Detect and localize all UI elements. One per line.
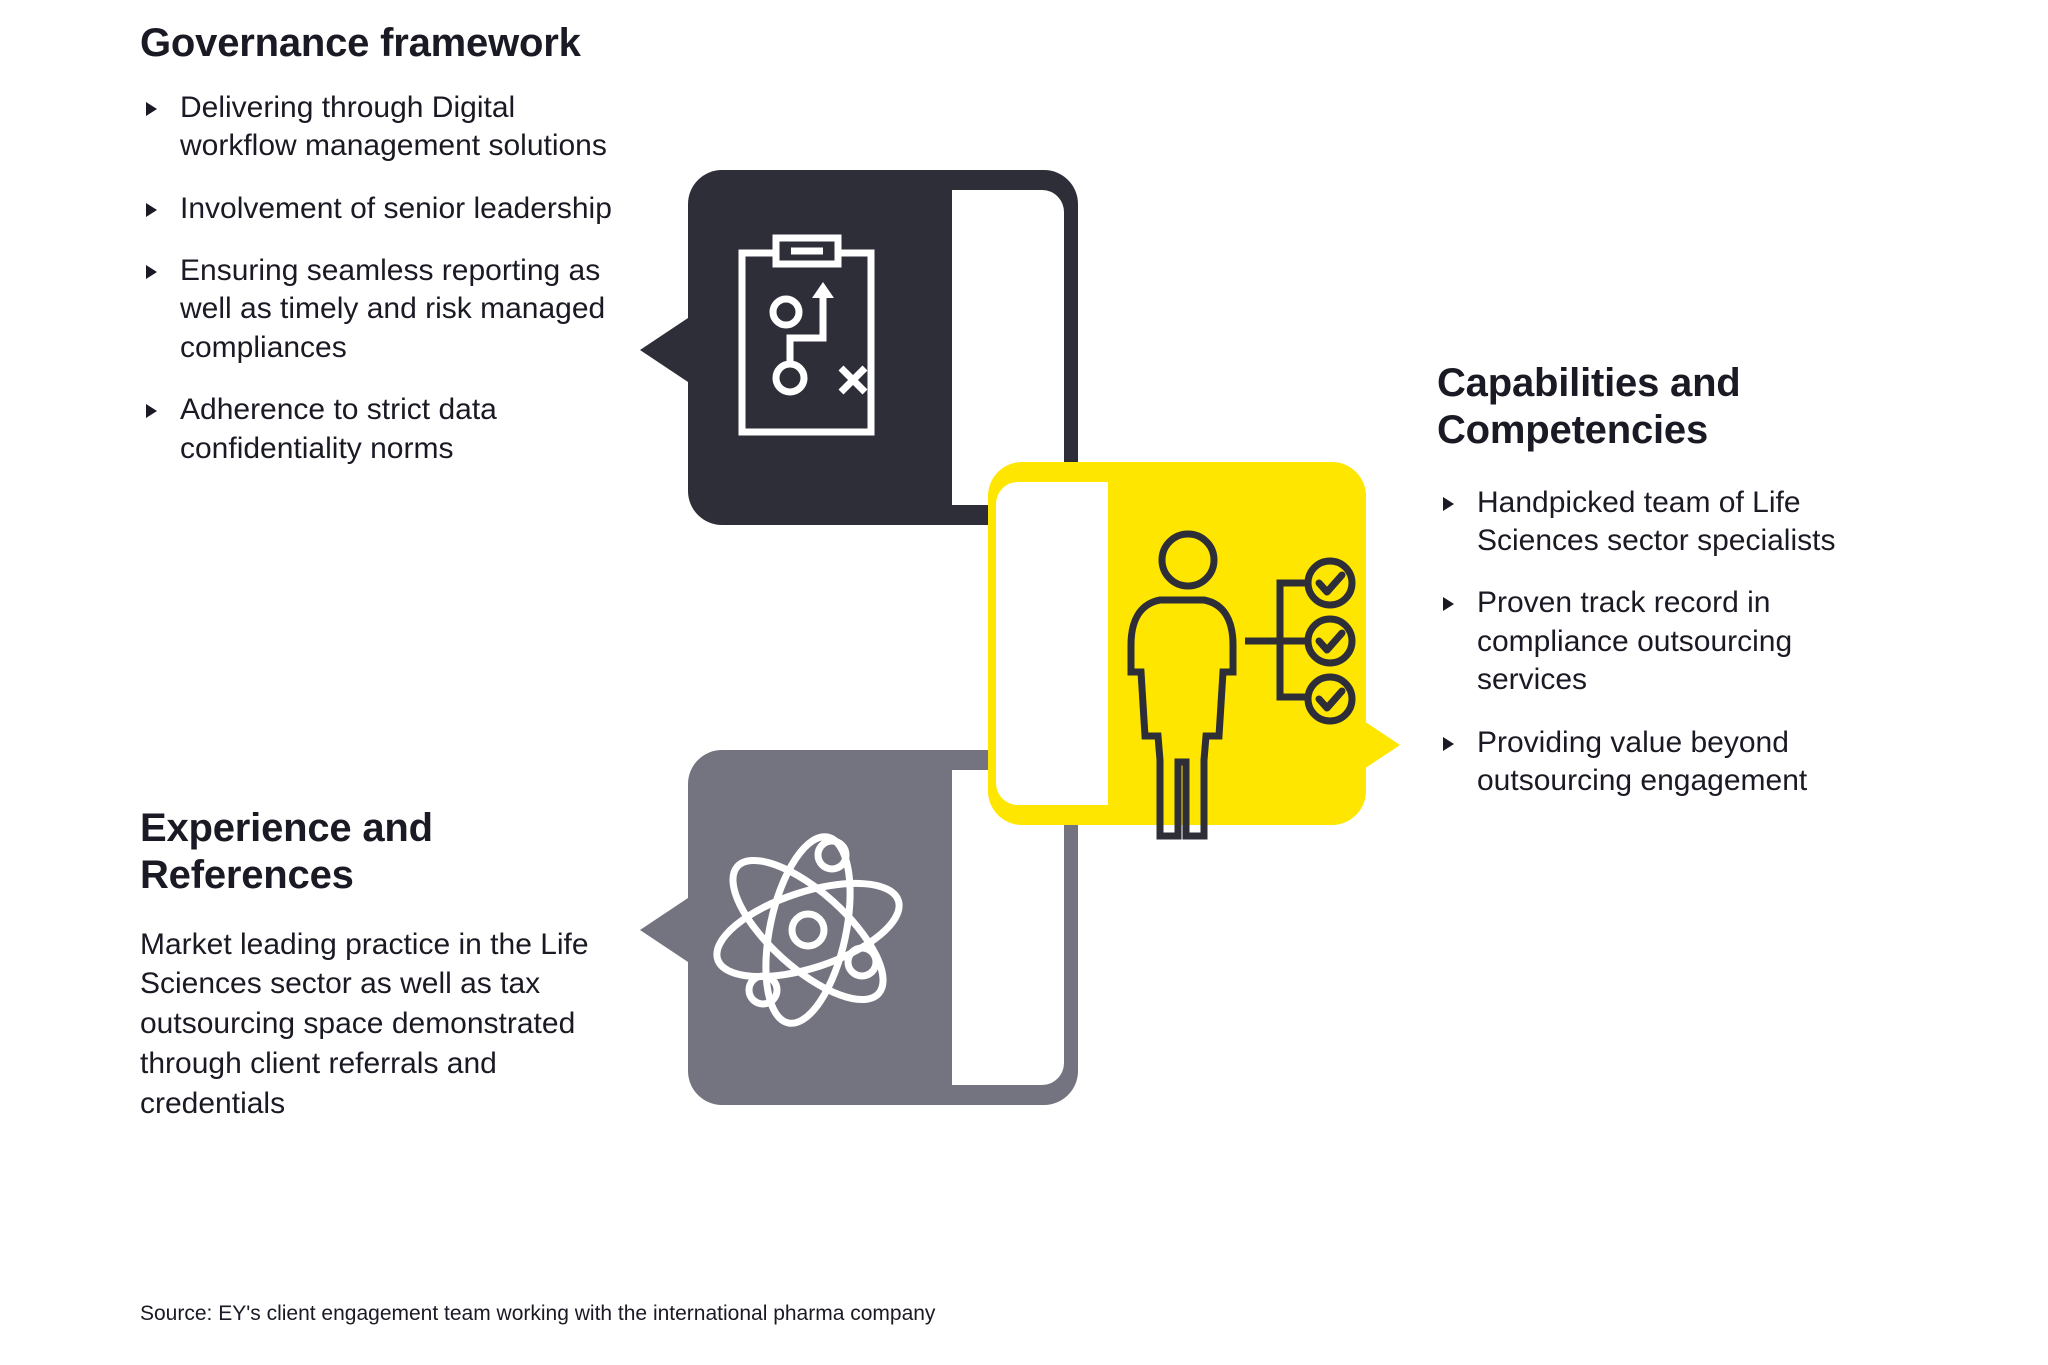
bullet-text: Ensuring seamless reporting as well as t… <box>180 254 605 364</box>
governance-bullet-list: Delivering through Digital workflow mana… <box>140 89 630 468</box>
bullet-text: Involvement of senior leadership <box>180 192 612 225</box>
tile-experience-body <box>688 750 1078 1105</box>
experience-body: Market leading practice in the Life Scie… <box>140 925 610 1124</box>
list-item: Providing value beyond outsourcing engag… <box>1437 724 1907 801</box>
tile-experience-tail <box>640 890 700 970</box>
bullet-triangle-icon <box>146 102 157 116</box>
tile-capabilities[interactable] <box>988 462 1400 836</box>
list-item: Involvement of senior leadership <box>140 190 630 228</box>
bullet-triangle-icon <box>1443 597 1454 611</box>
bullet-text: Delivering through Digital workflow mana… <box>180 91 607 162</box>
capabilities-title: Capabilities and Competencies <box>1437 360 1907 454</box>
tile-capabilities-notch <box>996 482 1108 805</box>
bullet-text: Proven track record in compliance outsou… <box>1477 586 1792 696</box>
tile-capabilities-tail <box>1340 705 1400 785</box>
list-item: Handpicked team of Life Sciences sector … <box>1437 484 1907 561</box>
clipboard-strategy-icon <box>742 238 871 432</box>
section-governance-text: Governance framework Delivering through … <box>140 20 630 468</box>
tile-governance-body <box>688 170 1078 525</box>
governance-title: Governance framework <box>140 20 630 67</box>
tile-capabilities-body <box>988 462 1366 825</box>
section-experience-text: Experience and References Market leading… <box>140 805 610 1124</box>
list-item: Proven track record in compliance outsou… <box>1437 584 1907 699</box>
tile-experience[interactable] <box>640 750 1078 1105</box>
list-item: Ensuring seamless reporting as well as t… <box>140 252 630 367</box>
experience-title: Experience and References <box>140 805 610 899</box>
list-item: Adherence to strict data confidentiality… <box>140 391 630 468</box>
infographic-canvas: Governance framework Delivering through … <box>0 0 2048 1365</box>
bullet-text: Providing value beyond outsourcing engag… <box>1477 726 1807 797</box>
source-note: Source: EY's client engagement team work… <box>140 1300 935 1327</box>
bullet-triangle-icon <box>1443 737 1454 751</box>
bullet-triangle-icon <box>146 265 157 279</box>
list-item: Delivering through Digital workflow mana… <box>140 89 630 166</box>
bullet-text: Adherence to strict data confidentiality… <box>180 393 497 464</box>
bullet-triangle-icon <box>1443 497 1454 511</box>
tile-governance-tail <box>640 310 700 390</box>
capabilities-bullet-list: Handpicked team of Life Sciences sector … <box>1437 484 1907 801</box>
tile-governance-notch <box>952 190 1064 505</box>
bullet-triangle-icon <box>146 404 157 418</box>
atom-icon <box>706 829 910 1031</box>
tile-governance[interactable] <box>640 170 1078 525</box>
bullet-text: Handpicked team of Life Sciences sector … <box>1477 486 1835 557</box>
tile-experience-notch <box>952 770 1064 1085</box>
bullet-triangle-icon <box>146 203 157 217</box>
person-checklist-icon <box>1131 534 1352 836</box>
section-capabilities-text: Capabilities and Competencies Handpicked… <box>1437 360 1907 800</box>
